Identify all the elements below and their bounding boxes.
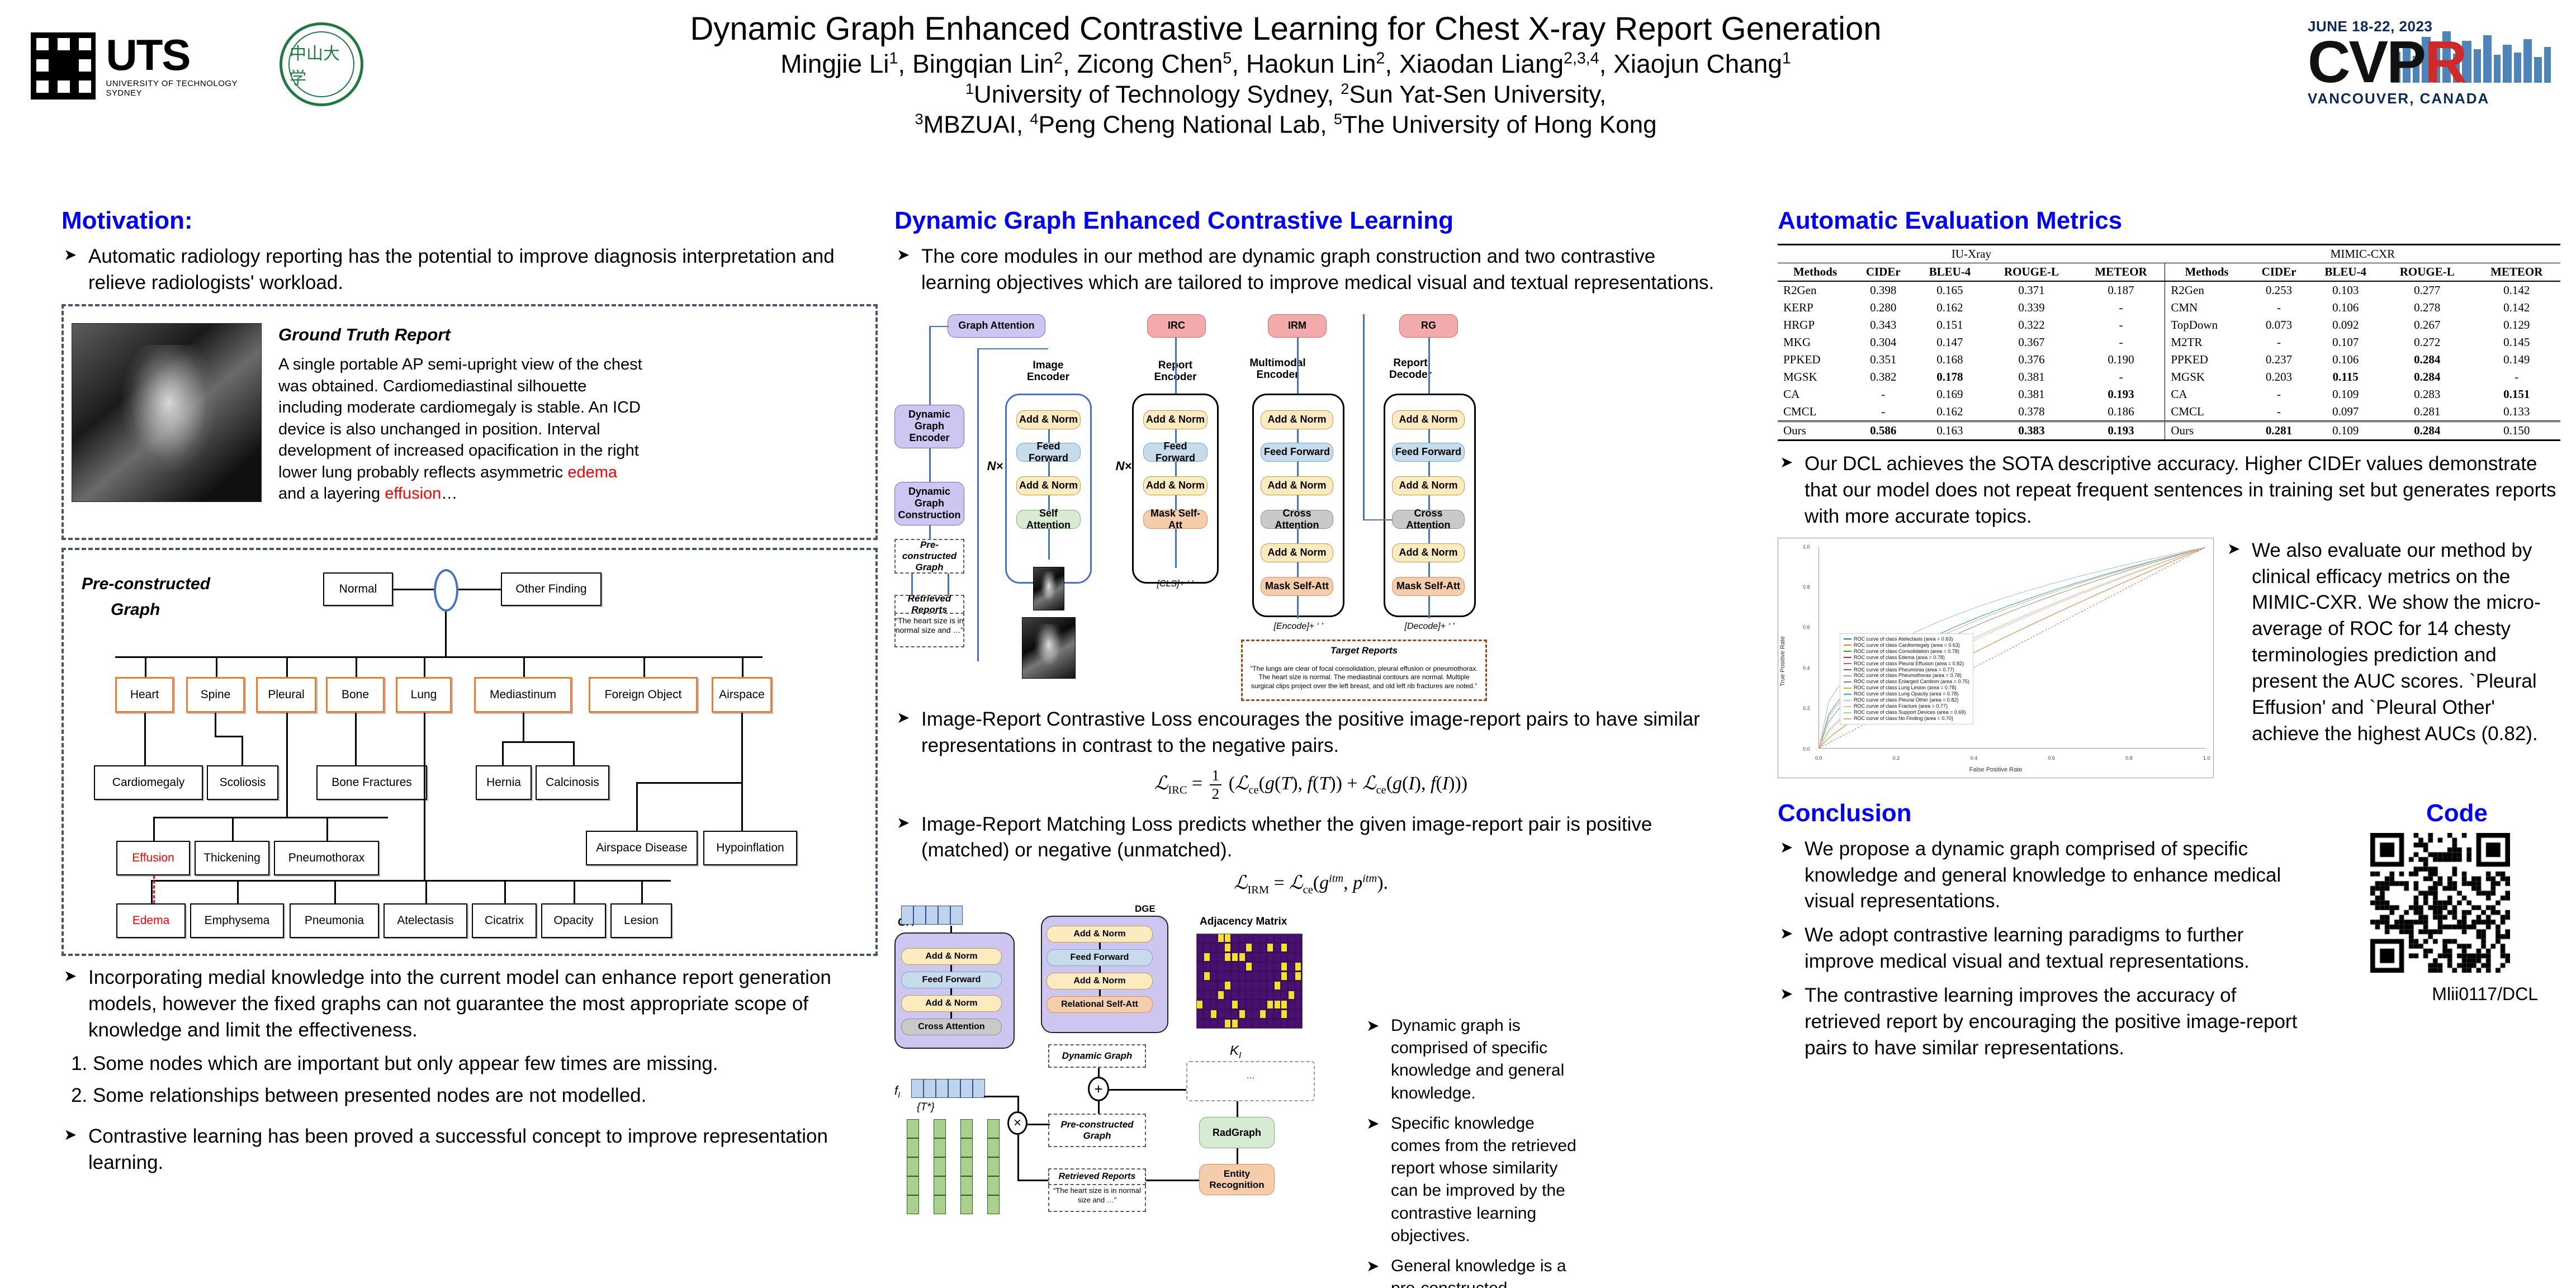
uts-logo-word: UTS <box>106 34 271 75</box>
roc-legend-item: ROC curve of class Fracture (area = 0.77… <box>1844 703 1969 709</box>
equation-irm: ℒIRM = ℒce(gitm, pitm). <box>894 872 1727 897</box>
conclusion-heading: Conclusion <box>1778 799 1912 827</box>
mm-mask-self-att: Mask Self-Att <box>1261 577 1333 596</box>
qr-code[interactable] <box>2370 833 2510 973</box>
dge-add-norm-2: Add & Norm <box>1046 926 1153 943</box>
table-row: HRGP0.3430.1510.322-TopDown0.0730.0920.2… <box>1778 316 2560 334</box>
graph-node-hernia: Hernia <box>476 765 532 800</box>
sysu-logo-glyph: 中山大学 <box>288 31 354 97</box>
roc-ytick: 1.0 <box>1803 544 1810 550</box>
graph-node-bone-fractures: Bone Fractures <box>316 765 427 800</box>
ground-truth-report-title: Ground Truth Report <box>278 323 647 346</box>
pre-constructed-graph: Pre-constructed Graph Normal Other Findi… <box>72 562 868 948</box>
pre-constructed-graph-ref: Pre-constructed Graph <box>894 539 964 574</box>
graph-node-foreign-object: Foreign Object <box>589 677 698 713</box>
page-title: Dynamic Graph Enhanced Contrastive Learn… <box>503 11 2068 48</box>
adjacency-matrix <box>1196 934 1303 1029</box>
retrieved-reports-ref: Retrieved Reports <box>894 595 964 614</box>
architecture-diagram: Graph AttentionDynamic Graph EncoderDyna… <box>894 304 1727 707</box>
rd-add-norm-1: Add & Norm <box>1392 543 1465 562</box>
table-col-7: BLEU-4 <box>2309 263 2381 282</box>
dge-add-norm-1: Add & Norm <box>1046 973 1153 989</box>
report-add-norm-2: Add & Norm <box>1143 410 1207 429</box>
graph-node-lung: Lung <box>396 677 452 713</box>
code-label: Mlii0117/DCL <box>2432 984 2538 1005</box>
decode-token-label: [Decode]+ ‘ ' <box>1382 622 1477 632</box>
roc-legend-item: ROC curve of class Pleural Effusion (are… <box>1844 661 1969 667</box>
mm-add-norm-1: Add & Norm <box>1261 543 1333 562</box>
results-bullet-2: We also evaluate our method by clinical … <box>2225 538 2560 747</box>
roc-legend-item: ROC curve of class Pheumothorax (area = … <box>1844 673 1969 679</box>
k-i-label: KI <box>1230 1043 1241 1061</box>
graph-node-edema: Edema <box>116 903 186 938</box>
graph-node-scoliosis: Scoliosis <box>207 765 278 800</box>
roc-legend-item: ROC curve of class Edema (area = 0.78) <box>1844 655 1969 661</box>
dynamic-graph-construction-box: Dynamic Graph Construction <box>894 482 964 525</box>
cvpr-badge: JUNE 18-22, 2023 CVPR VANCOUVER, CANADA <box>2308 18 2554 107</box>
uts-logo: UTS UNIVERSITY OF TECHNOLOGY SYDNEY <box>31 21 271 111</box>
preconstructed-graph-node: Pre-constructed Graph <box>1048 1114 1146 1147</box>
table-row: R2Gen0.3980.1650.3710.187R2Gen0.2530.103… <box>1778 281 2560 299</box>
graph-root-ellipse <box>434 569 458 612</box>
roc-legend-item: ROC curve of class Support Devices (area… <box>1844 709 1969 716</box>
graph-node-emphysema: Emphysema <box>190 903 284 938</box>
dge-bullet-2: Specific knowledge comes from the retrie… <box>1364 1112 1588 1247</box>
report-nx-label: N× <box>1112 460 1135 473</box>
ga-cross-attention: Cross Attention <box>901 1019 1002 1035</box>
graph-node-normal: Normal <box>323 572 393 606</box>
table-dataset-mimic: MIMIC-CXR <box>2165 245 2560 263</box>
graph-node-other-finding: Other Finding <box>501 572 602 606</box>
sum-operator-icon: + <box>1088 1077 1109 1101</box>
table-col-2: BLEU-4 <box>1914 263 1986 282</box>
report-highlight-effusion: effusion <box>385 485 441 503</box>
motivation-heading: Motivation: <box>61 207 878 235</box>
irm-box: IRM <box>1268 314 1327 338</box>
roc-ytick: 0.6 <box>1803 624 1810 630</box>
conclusion-section: Conclusion Code We propose a dynamic gra… <box>1778 799 2560 1062</box>
table-dataset-iu-xray: IU-Xray <box>1778 245 2165 263</box>
graph-node-bone: Bone <box>326 677 385 713</box>
report-mask-self-att: Mask Self-Att <box>1143 510 1207 529</box>
xray-patch-grid <box>1033 567 1064 610</box>
roc-legend-item: ROC curve of class Cardiomegaly (area = … <box>1844 642 1969 648</box>
cvpr-city: VANCOUVER, CANADA <box>2308 90 2554 107</box>
graph-node-cardiomegaly: Cardiomegaly <box>94 765 203 800</box>
conclusion-bullet-1: We propose a dynamic graph comprised of … <box>1778 836 2298 915</box>
code-heading: Code <box>2426 799 2488 827</box>
target-reports-text: “The lungs are clear of focal consolidat… <box>1247 665 1481 691</box>
graph-node-spine: Spine <box>186 677 245 713</box>
affiliation-line-2: 3MBZUAI, 4Peng Cheng National Lab, 5The … <box>503 110 2068 140</box>
method-bullet-irc-wrap: Image-Report Contrastive Loss encourages… <box>894 707 1727 759</box>
dge-bullet-1: Dynamic graph is comprised of specific k… <box>1364 1015 1588 1105</box>
rd-add-norm-2: Add & Norm <box>1392 476 1465 495</box>
uts-mark-icon <box>31 32 96 100</box>
rd-feed-forward: Feed Forward <box>1392 443 1465 462</box>
motivation-numbered-1: Some nodes which are important but only … <box>93 1051 878 1077</box>
table-col-5: Methods <box>2165 263 2248 282</box>
ground-truth-report-body: A single portable AP semi-upright view o… <box>278 354 647 505</box>
graph-node-cicatrix: Cicatrix <box>472 903 537 938</box>
rd-cross-attention: Cross Attention <box>1392 510 1465 529</box>
conclusion-bullet-3: The contrastive learning improves the ac… <box>1778 983 2298 1062</box>
graph-node-pneumonia: Pneumonia <box>290 903 379 938</box>
report-decoder-label: Report Decoder <box>1374 358 1447 381</box>
image-feed-forward: Feed Forward <box>1016 443 1081 462</box>
ft-tensor <box>901 906 963 925</box>
motivation-bullet-2: Incorporating medial knowledge into the … <box>61 965 878 1044</box>
irc-box: IRC <box>1147 314 1206 338</box>
roc-xlabel: False Positive Rate <box>1969 766 2023 773</box>
column-results: Automatic Evaluation Metrics IU-XrayMIMI… <box>1778 207 2560 1069</box>
roc-legend: ROC curve of class Atelectasis (area = 0… <box>1840 633 1973 725</box>
graph-node-lesion: Lesion <box>610 903 672 938</box>
ground-truth-report-text: Ground Truth Report A single portable AP… <box>278 323 647 505</box>
dynamic-graph-node: Dynamic Graph <box>1048 1044 1146 1068</box>
sysu-logo: 中山大学 <box>280 22 363 106</box>
roc-legend-item: ROC curve of class Pleural Other (area =… <box>1844 697 1969 703</box>
method-heading: Dynamic Graph Enhanced Contrastive Learn… <box>894 207 1727 235</box>
roc-xtick: 0.0 <box>1815 755 1822 761</box>
knowledge-triples-box: … <box>1186 1061 1315 1101</box>
graph-node-atelectasis: Atelectasis <box>383 903 467 938</box>
dge-retrieved-reports-label: Retrieved Reports <box>1048 1168 1146 1185</box>
mm-add-norm-2: Add & Norm <box>1261 476 1333 495</box>
roc-legend-item: ROC curve of class Pheumonia (area = 0.7… <box>1844 667 1969 673</box>
roc-legend-item: ROC curve of class No Finding (area = 0.… <box>1844 716 1969 722</box>
graph-node-effusion: Effusion <box>116 841 190 875</box>
table-col-3: ROUGE-L <box>1986 263 2077 282</box>
affiliation-line-1: 1University of Technology Sydney, 2Sun Y… <box>503 79 2068 110</box>
method-bullets-top: The core modules in our method are dynam… <box>894 244 1727 296</box>
column-method: Dynamic Graph Enhanced Contrastive Learn… <box>894 207 1727 1185</box>
roc-chart: True Positive Rate False Positive Rate R… <box>1778 538 2214 778</box>
dge-bullet-3: General knowledge is a pre-constructed k… <box>1364 1255 1588 1288</box>
image-encoder-label: Image Encoder <box>1015 360 1082 383</box>
relational-self-att: Relational Self-Att <box>1046 996 1153 1013</box>
roc-ytick: 0.4 <box>1803 665 1810 671</box>
cls-token-label: [CLS]+ ‘ ' <box>1136 579 1214 589</box>
table-col-8: ROUGE-L <box>2381 263 2473 282</box>
radgraph-box: RadGraph <box>1199 1117 1275 1148</box>
report-feed-forward: Feed Forward <box>1143 443 1207 462</box>
table-row: KERP0.2800.1620.339-CMN-0.1060.2780.142 <box>1778 299 2560 316</box>
roc-xtick: 0.8 <box>2125 755 2133 761</box>
table-row: PPKED0.3510.1680.3760.190PPKED0.2370.106… <box>1778 351 2560 368</box>
graph-node-airspace-disease: Airspace Disease <box>586 831 698 865</box>
column-motivation: Motivation: Automatic radiology reportin… <box>61 207 878 1184</box>
cvpr-logo: CVPR <box>2308 35 2554 90</box>
graph-label-line1: Pre-constructed <box>82 575 210 594</box>
motivation-bullets-top: Automatic radiology reporting has the po… <box>61 244 878 296</box>
mm-add-norm-3: Add & Norm <box>1261 410 1333 429</box>
encode-token-label: [Encode]+ ‘ ' <box>1252 622 1344 632</box>
motivation-numbered-2: Some relationships between presented nod… <box>93 1083 878 1109</box>
table-row: CA-0.1690.3810.193CA-0.1090.2830.151 <box>1778 386 2560 403</box>
graph-label-line2: Graph <box>111 600 160 619</box>
image-nx-label: N× <box>984 460 1006 473</box>
poster-header: UTS UNIVERSITY OF TECHNOLOGY SYDNEY 中山大学… <box>0 0 2576 190</box>
ga-add-norm-1: Add & Norm <box>901 995 1002 1012</box>
ga-add-norm-2: Add & Norm <box>901 948 1002 965</box>
mm-feed-forward: Feed Forward <box>1261 443 1333 462</box>
results-heading: Automatic Evaluation Metrics <box>1778 207 2560 235</box>
motivation-bullet-3: Contrastive learning has been proved a s… <box>61 1124 878 1176</box>
roc-xtick: 0.4 <box>1971 755 1978 761</box>
method-bullet-2: Image-Report Contrastive Loss encourages… <box>894 707 1727 759</box>
table-row: MGSK0.3820.1780.381-MGSK0.2030.1150.284- <box>1778 368 2560 386</box>
results-bullet-1: Our DCL achieves the SOTA descriptive ac… <box>1778 451 2560 530</box>
table-col-6: CIDEr <box>2248 263 2310 282</box>
motivation-bullets-bottom: Incorporating medial knowledge into the … <box>61 965 878 1044</box>
table-col-0: Methods <box>1778 263 1853 282</box>
conclusion-bullet-2: We adopt contrastive learning paradigms … <box>1778 922 2298 975</box>
image-add-norm-1: Add & Norm <box>1016 476 1081 495</box>
t-set-label: {T*} <box>917 1101 935 1114</box>
xray-input-image <box>1022 617 1076 679</box>
roc-ytick: 0.2 <box>1803 705 1810 711</box>
graph-node-airspace: Airspace <box>712 677 772 713</box>
roc-legend-item: ROC curve of class Atelectasis (area = 0… <box>1844 636 1969 642</box>
table-col-9: METEOR <box>2473 263 2560 282</box>
table-col-4: METEOR <box>2077 263 2165 282</box>
roc-xtick: 0.2 <box>1893 755 1900 761</box>
motivation-bullets-final: Contrastive learning has been proved a s… <box>61 1124 878 1176</box>
graph-node-opacity: Opacity <box>541 903 606 938</box>
dge-bullets: Dynamic graph is comprised of specific k… <box>1364 1015 1588 1288</box>
retrieved-reports-box <box>894 613 964 647</box>
dge-feed-forward: Feed Forward <box>1046 949 1153 966</box>
graph-node-hypoinflation: Hypoinflation <box>703 831 797 865</box>
t-tensor <box>934 1119 946 1214</box>
uts-logo-subtitle: UNIVERSITY OF TECHNOLOGY SYDNEY <box>106 79 271 98</box>
method-bullet-3: Image-Report Matching Loss predicts whet… <box>894 812 1727 864</box>
roc-section: True Positive Rate False Positive Rate R… <box>1778 538 2560 789</box>
graph-node-thickening: Thickening <box>195 841 269 875</box>
table-row: MKG0.3040.1470.367-M2TR-0.1070.2720.145 <box>1778 334 2560 351</box>
product-operator-icon: × <box>1007 1111 1027 1135</box>
table-row: CMCL-0.1620.3780.186CMCL-0.0970.2810.133 <box>1778 403 2560 422</box>
roc-ylabel: True Positive Rate <box>1779 636 1786 686</box>
graph-node-pneumothorax: Pneumothorax <box>274 841 379 875</box>
multimodal-encoder-label: Multimodal Encoder <box>1240 358 1315 381</box>
equation-irc: ℒIRC = 12 (ℒce(g(T), f(T)) + ℒce(g(I), f… <box>894 767 1727 803</box>
author-list: Mingjie Li1, Bingqian Lin2, Zicong Chen5… <box>503 49 2068 79</box>
table-row-ours: Ours0.5860.1630.3830.193Ours0.2810.1090.… <box>1778 422 2560 441</box>
report-highlight-edema: edema <box>567 463 617 481</box>
graph-node-calcinosis: Calcinosis <box>536 765 609 800</box>
roc-xtick: 0.6 <box>2048 755 2055 761</box>
rd-add-norm-3: Add & Norm <box>1392 410 1465 429</box>
roc-legend-item: ROC curve of class Consolidation (area =… <box>1844 648 1969 655</box>
dge-retrieved-reports-text: “The heart size is in normal size and …” <box>1048 1185 1146 1212</box>
roc-ytick: 0.8 <box>1803 584 1810 590</box>
entity-recognition-box: Entity Recognition <box>1199 1164 1275 1195</box>
ga-feed-forward: Feed Forward <box>901 972 1002 988</box>
results-bullets: Our DCL achieves the SOTA descriptive ac… <box>1778 451 2560 530</box>
t-tensor <box>987 1119 1000 1214</box>
image-self-attention: Self Attention <box>1016 510 1081 529</box>
method-bullet-irm-wrap: Image-Report Matching Loss predicts whet… <box>894 812 1727 864</box>
graph-node-heart: Heart <box>115 677 174 713</box>
pre-constructed-graph-box: Pre-constructed Graph Normal Other Findi… <box>61 548 878 956</box>
adjacency-matrix-label: Adjacency Matrix <box>1200 916 1287 928</box>
motivation-numbered-list: Some nodes which are important but only … <box>93 1051 878 1109</box>
ground-truth-report-box: Ground Truth Report A single portable AP… <box>61 304 878 540</box>
poster-root: UTS UNIVERSITY OF TECHNOLOGY SYDNEY 中山大学… <box>0 0 2576 1288</box>
table-col-1: CIDEr <box>1853 263 1914 282</box>
graph-node-mediastinum: Mediastinum <box>474 677 572 713</box>
fi-tensor <box>911 1079 985 1098</box>
roc-legend-item: ROC curve of class Lung Opacity (area = … <box>1844 691 1969 697</box>
graph-edge-effusion-edema <box>153 875 155 903</box>
roc-legend-item: ROC curve of class Enlarged Cardiom (are… <box>1844 679 1969 685</box>
dge-label: DGE <box>1135 903 1156 915</box>
t-tensor <box>960 1119 973 1214</box>
graph-attention-box: Graph Attention <box>948 314 1045 338</box>
metrics-table: IU-XrayMIMIC-CXRMethodsCIDErBLEU-4ROUGE-… <box>1778 244 2560 441</box>
results-bullet-2-wrap: We also evaluate our method by clinical … <box>2225 538 2560 755</box>
roc-ytick: 0.0 <box>1803 746 1810 752</box>
motivation-bullet-1: Automatic radiology reporting has the po… <box>61 244 878 296</box>
chest-xray-image <box>72 323 262 502</box>
roc-xtick: 1.0 <box>2203 755 2210 761</box>
method-bullet-1: The core modules in our method are dynam… <box>894 244 1727 296</box>
rg-box: RG <box>1399 314 1458 338</box>
image-add-norm-2: Add & Norm <box>1016 410 1081 429</box>
title-block: Dynamic Graph Enhanced Contrastive Learn… <box>503 11 2068 140</box>
target-reports-label: Target Reports <box>1241 645 1487 656</box>
dge-diagram: GAAdd & NormFeed ForwardAdd & NormCross … <box>894 906 1727 1185</box>
mm-cross-attention: Cross Attention <box>1261 510 1333 529</box>
roc-legend-item: ROC curve of class Lung Lesion (area = 0… <box>1844 685 1969 691</box>
rd-mask-self-att: Mask Self-Att <box>1392 577 1465 596</box>
report-add-norm-1: Add & Norm <box>1143 476 1207 495</box>
f-i-label: fI <box>894 1083 900 1100</box>
dynamic-graph-encoder-box: Dynamic Graph Encoder <box>894 405 964 448</box>
conclusion-bullets: We propose a dynamic graph comprised of … <box>1778 836 2298 1062</box>
t-tensor <box>907 1119 919 1214</box>
graph-node-pleural: Pleural <box>256 677 316 713</box>
